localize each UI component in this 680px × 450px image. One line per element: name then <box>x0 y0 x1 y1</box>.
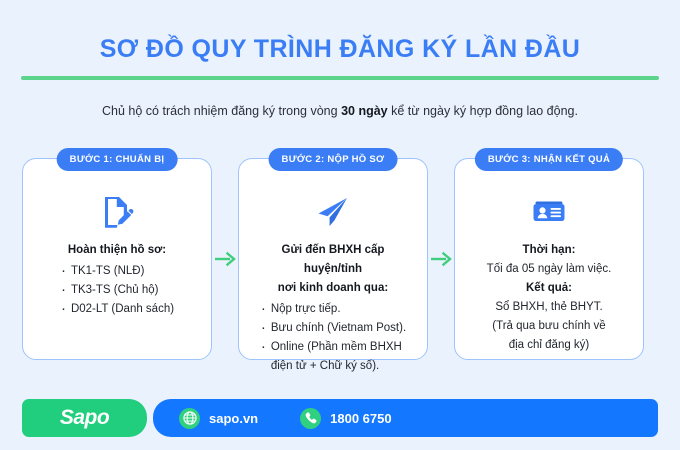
step-badge-1: BƯỚC 1: CHUẨN BỊ <box>57 148 178 171</box>
contact-phone-text: 1800 6750 <box>330 411 391 426</box>
sapo-logo[interactable]: Sapo <box>22 399 147 437</box>
globe-icon <box>179 408 200 429</box>
step-badge-3: BƯỚC 3: NHẬN KẾT QUẢ <box>475 148 623 171</box>
step-badge-2: BƯỚC 2: NỘP HỒ SƠ <box>269 148 398 171</box>
phone-icon <box>300 408 321 429</box>
step-body-1: Hoàn thiện hồ sơ: TK1-TS (NLĐ) TK3-TS (C… <box>23 239 211 319</box>
arrow-right-icon-2 <box>428 158 454 360</box>
id-card-icon <box>455 185 643 239</box>
step-card-2: BƯỚC 2: NỘP HỒ SƠ Gửi đến BHXH cấp huyện… <box>238 158 428 360</box>
step-body-3: Thời hạn: Tối đa 05 ngày làm việc. Kết q… <box>455 239 643 355</box>
title-divider <box>21 76 659 80</box>
step-lead-2b: nơi kinh doanh qua: <box>251 279 415 298</box>
paper-plane-icon <box>239 185 427 239</box>
step-bullets-1: TK1-TS (NLĐ) TK3-TS (Chủ hộ) D02-LT (Dan… <box>60 262 174 319</box>
step-line-3b: Sổ BHXH, thẻ BHYT. <box>467 298 631 317</box>
process-flow: BƯỚC 1: CHUẨN BỊ Hoàn thiện hồ sơ: TK1-T… <box>22 158 658 360</box>
subtitle-highlight: 30 ngày <box>341 104 388 118</box>
step-lead-2a: Gửi đến BHXH cấp huyện/tỉnh <box>251 241 415 279</box>
list-item-continuation: điện tử + Chữ ký số). <box>260 357 406 376</box>
contact-bar: sapo.vn 1800 6750 <box>153 399 658 437</box>
contact-phone[interactable]: 1800 6750 <box>300 408 391 429</box>
list-item: Bưu chính (Vietnam Post). <box>260 319 406 338</box>
step-body-2: Gửi đến BHXH cấp huyện/tỉnh nơi kinh doa… <box>239 239 427 376</box>
contact-website-text: sapo.vn <box>209 411 258 426</box>
list-item: D02-LT (Danh sách) <box>60 300 174 319</box>
contact-website[interactable]: sapo.vn <box>179 408 258 429</box>
header: SƠ ĐỒ QUY TRÌNH ĐĂNG KÝ LẦN ĐẦU Chủ hộ c… <box>0 0 680 120</box>
subtitle-suffix: kể từ ngày ký hợp đồng lao động. <box>388 104 578 118</box>
page-title: SƠ ĐỒ QUY TRÌNH ĐĂNG KÝ LẦN ĐẦU <box>0 34 680 64</box>
step-line-3d: địa chỉ đăng ký) <box>467 336 631 355</box>
document-pencil-icon <box>23 185 211 239</box>
list-item: Nộp trực tiếp. <box>260 300 406 319</box>
brand-name: Sapo <box>60 406 109 430</box>
list-item: Online (Phần mềm BHXH <box>260 338 406 357</box>
step-line-3a: Tối đa 05 ngày làm việc. <box>467 260 631 279</box>
step-lead-3b: Kết quả: <box>467 279 631 298</box>
step-bullets-2: Nộp trực tiếp. Bưu chính (Vietnam Post).… <box>260 300 406 376</box>
subtitle-prefix: Chủ hộ có trách nhiệm đăng ký trong vòng <box>102 104 341 118</box>
step-card-3: BƯỚC 3: NHẬN KẾT QUẢ Thời hạn: Tối đa 05… <box>454 158 644 360</box>
subtitle: Chủ hộ có trách nhiệm đăng ký trong vòng… <box>30 102 650 120</box>
step-lead-3a: Thời hạn: <box>467 241 631 260</box>
footer: Sapo sapo.vn 1800 6750 <box>22 399 658 437</box>
list-item: TK3-TS (Chủ hộ) <box>60 281 174 300</box>
step-lead-1: Hoàn thiện hồ sơ: <box>35 241 199 260</box>
step-card-1: BƯỚC 1: CHUẨN BỊ Hoàn thiện hồ sơ: TK1-T… <box>22 158 212 360</box>
list-item: TK1-TS (NLĐ) <box>60 262 174 281</box>
arrow-right-icon-1 <box>212 158 238 360</box>
step-line-3c: (Trả qua bưu chính về <box>467 317 631 336</box>
